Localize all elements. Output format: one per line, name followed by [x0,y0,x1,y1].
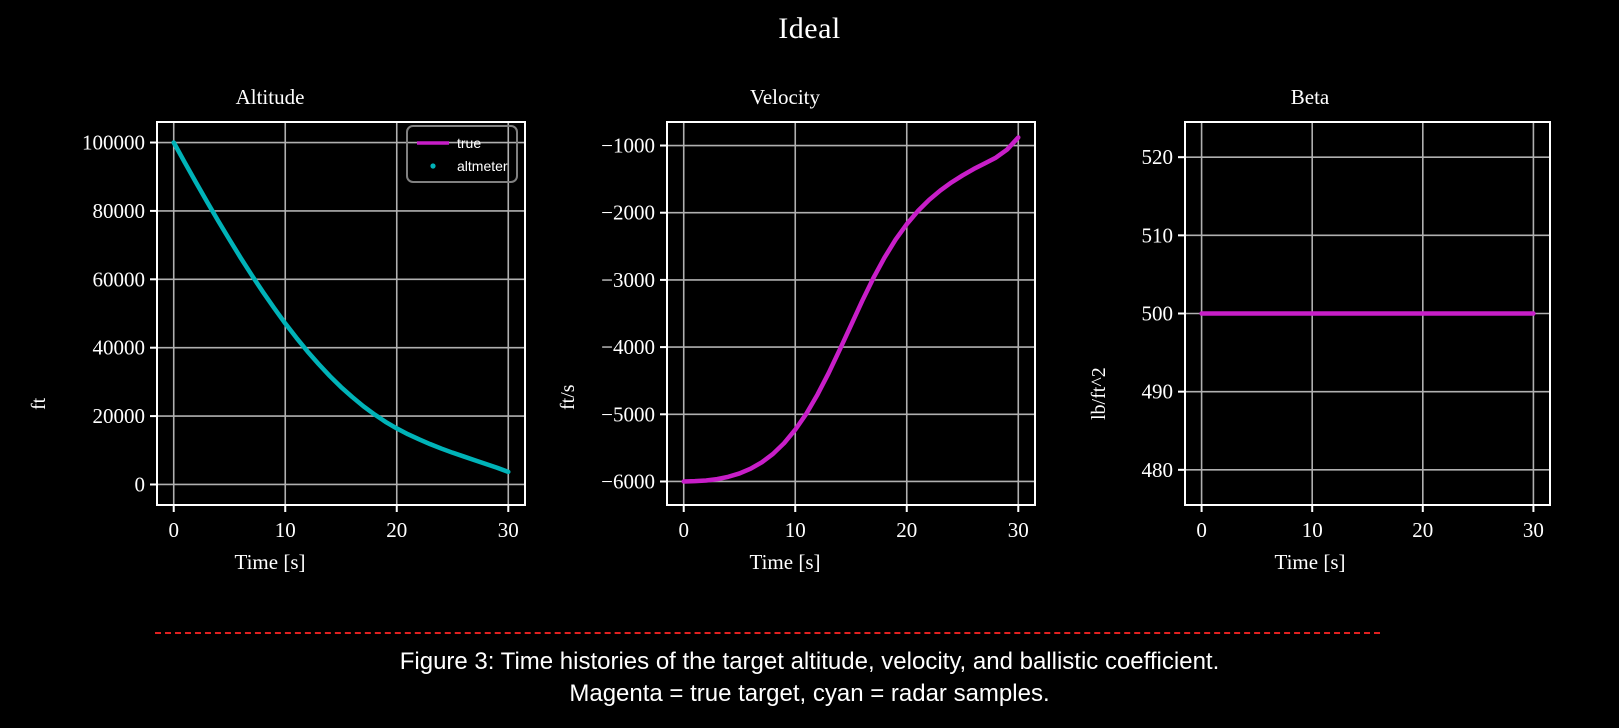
x-tick-label: 10 [275,518,296,542]
y-tick-label: 520 [1142,145,1174,169]
x-tick-label: 30 [1008,518,1029,542]
subplot-beta: Beta lb/ft^2 Time [s] 010203048049050051… [1030,80,1590,580]
y-tick-label: −3000 [601,268,655,292]
series-line-altmeter [174,143,509,472]
y-tick-label: 100000 [82,131,145,155]
y-tick-label: −6000 [601,469,655,493]
y-tick-label: 510 [1142,223,1174,247]
y-tick-label: −4000 [601,335,655,359]
subplot-altitude: Altitude ft Time [s] 0102030020000400006… [0,80,540,580]
plot-area-altitude: 0102030020000400006000080000100000trueal… [0,80,540,580]
plot-area-velocity: 0102030−6000−5000−4000−3000−2000−1000 [515,80,1055,580]
x-tick-label: 20 [896,518,917,542]
x-tick-label: 0 [168,518,179,542]
figure-caption: Figure 3: Time histories of the target a… [0,646,1619,711]
y-tick-label: 500 [1142,302,1174,326]
legend-swatch-dot-altmeter [430,163,435,168]
axes-frame [667,122,1035,505]
figure-suptitle: Ideal [0,12,1619,46]
x-tick-label: 10 [785,518,806,542]
x-tick-label: 30 [1523,518,1544,542]
x-tick-label: 20 [386,518,407,542]
plot-area-beta: 0102030480490500510520 [1030,80,1590,580]
y-tick-label: −1000 [601,134,655,158]
caption-line-2: Magenta = true target, cyan = radar samp… [0,678,1619,710]
y-tick-label: −2000 [601,201,655,225]
y-tick-label: −5000 [601,402,655,426]
y-tick-label: 80000 [93,199,146,223]
figure-canvas: Ideal Altitude ft Time [s] 0102030020000… [0,0,1619,728]
series-line-true [684,137,1019,481]
subplot-velocity: Velocity ft/s Time [s] 0102030−6000−5000… [515,80,1055,580]
y-tick-label: 490 [1142,380,1174,404]
x-tick-label: 0 [678,518,689,542]
y-tick-label: 40000 [93,336,146,360]
caption-divider [155,632,1380,634]
y-tick-label: 0 [135,472,146,496]
x-tick-label: 10 [1302,518,1323,542]
legend[interactable]: truealtmeter [407,126,517,182]
legend-label-true: true [457,135,481,151]
y-tick-label: 60000 [93,267,146,291]
y-tick-label: 20000 [93,404,146,428]
caption-line-1: Figure 3: Time histories of the target a… [0,646,1619,678]
axes-frame [157,122,525,505]
y-tick-label: 480 [1142,458,1174,482]
x-tick-label: 0 [1196,518,1207,542]
x-tick-label: 20 [1412,518,1433,542]
legend-label-altmeter: altmeter [457,158,508,174]
